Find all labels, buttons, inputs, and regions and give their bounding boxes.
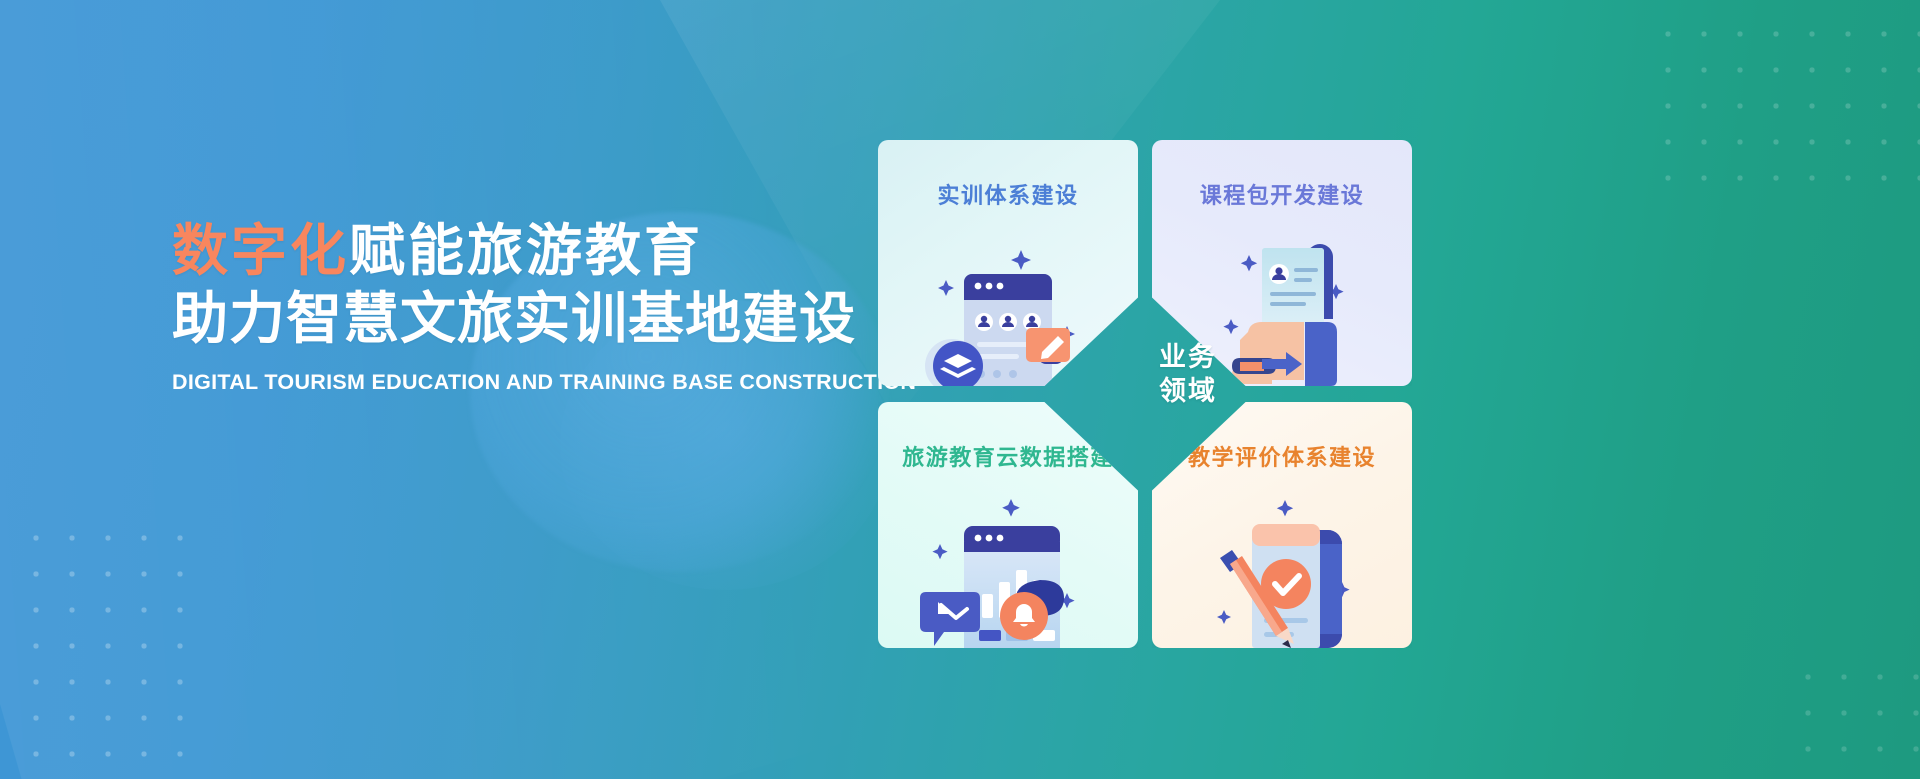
card-course-package[interactable]: 课程包开发建设 bbox=[1152, 140, 1412, 386]
card-title-training-system: 实训体系建设 bbox=[878, 178, 1138, 210]
dot-grid-left bbox=[18, 520, 208, 770]
headline-accent-text: 数字化 bbox=[172, 219, 349, 282]
card-title-teaching-evaluation: 教学评价体系建设 bbox=[1152, 440, 1412, 472]
checklist-pen-approval-icon bbox=[1152, 488, 1412, 648]
browser-window-team-edit-icon bbox=[878, 226, 1138, 386]
headline-line-1: 数字化赋能旅游教育 bbox=[172, 222, 872, 280]
headline-line-2: 助力智慧文旅实训基地建设 bbox=[172, 290, 872, 348]
dashboard-chart-notification-icon bbox=[878, 488, 1138, 648]
card-title-course-package: 课程包开发建设 bbox=[1152, 178, 1412, 210]
headline-block: 数字化赋能旅游教育 助力智慧文旅实训基地建设 DIGITAL TOURISM E… bbox=[172, 222, 872, 395]
headline-subtitle-english: DIGITAL TOURISM EDUCATION AND TRAINING B… bbox=[172, 370, 872, 395]
dot-grid-top-right bbox=[1650, 16, 1920, 206]
card-cloud-data[interactable]: 旅游教育云数据搭建 bbox=[878, 402, 1138, 648]
dot-grid-bottom-right bbox=[1790, 659, 1920, 779]
card-training-system[interactable]: 实训体系建设 bbox=[878, 140, 1138, 386]
promotional-banner: 数字化赋能旅游教育 助力智慧文旅实训基地建设 DIGITAL TOURISM E… bbox=[0, 0, 1920, 779]
card-teaching-evaluation[interactable]: 教学评价体系建设 bbox=[1152, 402, 1412, 648]
business-domain-card-grid: 实训体系建设 bbox=[878, 140, 1412, 648]
hand-holding-id-document-icon bbox=[1152, 226, 1412, 386]
card-title-cloud-data: 旅游教育云数据搭建 bbox=[878, 440, 1138, 472]
headline-rest-text: 赋能旅游教育 bbox=[349, 219, 703, 282]
